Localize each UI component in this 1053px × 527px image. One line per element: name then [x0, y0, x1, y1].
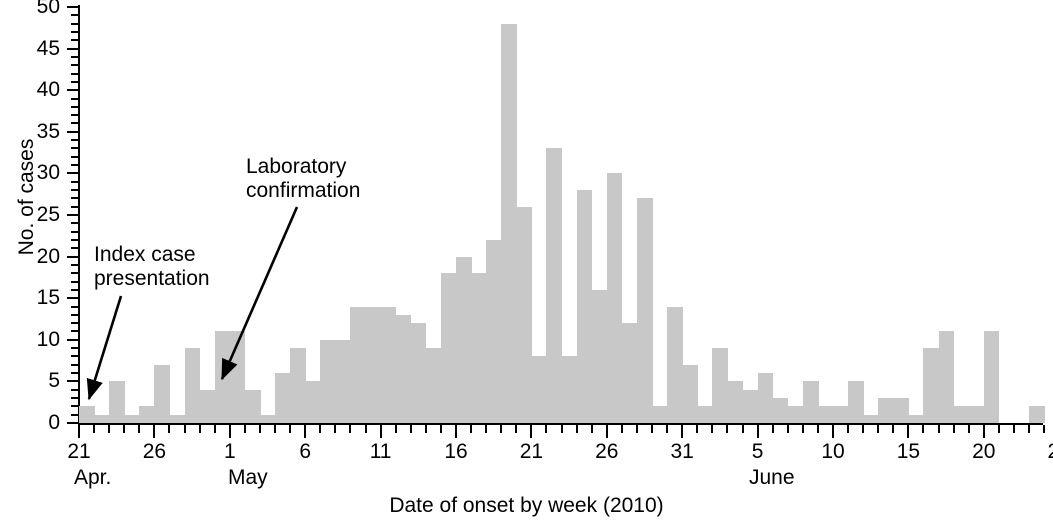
x-tick-minor: [93, 425, 95, 433]
x-tick-minor: [742, 425, 744, 433]
y-tick-minor: [71, 206, 79, 208]
bar: [878, 398, 894, 423]
x-tick-minor: [214, 425, 216, 433]
x-tick-minor: [500, 425, 502, 433]
x-tick-major: [681, 425, 683, 438]
y-tick-minor: [71, 64, 79, 66]
bar: [124, 415, 140, 423]
x-tick-minor: [726, 425, 728, 433]
bar: [923, 348, 939, 423]
x-tick-major: [907, 425, 909, 438]
bar: [652, 406, 668, 423]
x-tick-major: [832, 425, 834, 438]
bar-series: [79, 7, 1043, 423]
y-tick-major: [67, 89, 79, 91]
x-tick-label: 26: [124, 441, 184, 463]
bar: [185, 348, 201, 423]
x-tick-minor: [425, 425, 427, 433]
x-tick-minor: [1013, 425, 1015, 433]
x-tick-minor: [636, 425, 638, 433]
y-tick-major: [67, 48, 79, 50]
bar: [320, 340, 336, 423]
y-tick-label: 10: [0, 329, 60, 350]
bar: [939, 331, 955, 423]
x-tick-label: 21: [49, 441, 109, 463]
y-tick-label: 0: [0, 412, 60, 433]
x-tick-major: [606, 425, 608, 438]
x-tick-label: 15: [878, 441, 938, 463]
y-tick-minor: [71, 264, 79, 266]
x-tick-minor: [485, 425, 487, 433]
y-tick-label: 45: [0, 38, 60, 59]
bar: [501, 24, 517, 423]
x-tick-minor: [651, 425, 653, 433]
y-tick-minor: [71, 189, 79, 191]
bar: [712, 348, 728, 423]
y-tick-minor: [71, 73, 79, 75]
y-tick-minor: [71, 389, 79, 391]
x-tick-minor: [138, 425, 140, 433]
y-tick-minor: [71, 239, 79, 241]
chart-figure: No. of cases 05101520253035404550 212616…: [0, 0, 1053, 527]
bar: [290, 348, 306, 423]
x-tick-minor: [395, 425, 397, 433]
bar: [1029, 406, 1045, 423]
y-tick-label: 30: [0, 162, 60, 183]
bar: [833, 406, 849, 423]
x-tick-minor: [199, 425, 201, 433]
y-tick-minor: [71, 314, 79, 316]
bar: [200, 390, 216, 423]
x-tick-label: 31: [652, 441, 712, 463]
x-tick-minor: [334, 425, 336, 433]
x-tick-major: [78, 425, 80, 438]
bar: [818, 406, 834, 423]
x-tick-minor: [922, 425, 924, 433]
y-tick-label: 20: [0, 246, 60, 267]
x-tick-minor: [365, 425, 367, 433]
bar: [516, 207, 532, 423]
bar: [426, 348, 442, 423]
bar: [154, 365, 170, 423]
y-tick-minor: [71, 289, 79, 291]
y-tick-minor: [71, 405, 79, 407]
bar: [984, 331, 1000, 423]
bar: [562, 356, 578, 423]
bar: [230, 331, 246, 423]
y-tick-label: 50: [0, 0, 60, 17]
x-tick-minor: [787, 425, 789, 433]
x-tick-minor: [817, 425, 819, 433]
x-tick-minor: [545, 425, 547, 433]
bar: [667, 307, 683, 423]
x-tick-minor: [259, 425, 261, 433]
x-tick-minor: [108, 425, 110, 433]
x-tick-minor: [123, 425, 125, 433]
y-tick-label: 40: [0, 79, 60, 100]
x-tick-label: 10: [803, 441, 863, 463]
bar: [411, 323, 427, 423]
y-tick-label: 25: [0, 204, 60, 225]
bar: [697, 406, 713, 423]
x-tick-minor: [470, 425, 472, 433]
bar: [215, 331, 231, 423]
x-tick-major: [530, 425, 532, 438]
x-tick-minor: [274, 425, 276, 433]
month-label-april: Apr.: [74, 467, 194, 489]
y-tick-label: 5: [0, 370, 60, 391]
x-tick-major: [380, 425, 382, 438]
x-tick-minor: [862, 425, 864, 433]
bar: [893, 398, 909, 423]
y-tick-major: [67, 339, 79, 341]
y-tick-minor: [71, 306, 79, 308]
x-axis-title: Date of onset by week (2010): [0, 495, 1053, 517]
y-tick-minor: [71, 56, 79, 58]
y-tick-minor: [71, 247, 79, 249]
plot-area: [79, 7, 1043, 423]
x-tick-major: [229, 425, 231, 438]
x-tick-label: 11: [351, 441, 411, 463]
y-tick-label: 35: [0, 121, 60, 142]
bar: [245, 390, 261, 423]
x-tick-label: 21: [501, 441, 561, 463]
month-label-june: June: [749, 467, 869, 489]
x-tick-label: 5: [728, 441, 788, 463]
x-tick-major: [455, 425, 457, 438]
bar: [758, 373, 774, 423]
bar: [727, 381, 743, 423]
x-tick-minor: [184, 425, 186, 433]
bar: [139, 406, 155, 423]
bar: [577, 190, 593, 423]
bar: [366, 307, 382, 423]
x-tick-major: [153, 425, 155, 438]
bar: [954, 406, 970, 423]
x-tick-minor: [440, 425, 442, 433]
bar: [260, 415, 276, 423]
y-tick-minor: [71, 364, 79, 366]
x-tick-minor: [591, 425, 593, 433]
y-tick-major: [67, 131, 79, 133]
bar: [456, 257, 472, 423]
bar: [773, 398, 789, 423]
y-tick-major: [67, 6, 79, 8]
bar: [275, 373, 291, 423]
x-tick-label: 1: [200, 441, 260, 463]
x-tick-minor: [696, 425, 698, 433]
x-tick-minor: [289, 425, 291, 433]
y-tick-minor: [71, 39, 79, 41]
bar: [471, 273, 487, 423]
x-tick-minor: [621, 425, 623, 433]
x-tick-major: [983, 425, 985, 438]
bar: [622, 323, 638, 423]
y-tick-major: [67, 214, 79, 216]
bar: [592, 290, 608, 423]
y-tick-minor: [71, 330, 79, 332]
bar: [305, 381, 321, 423]
y-tick-minor: [71, 181, 79, 183]
bar: [682, 365, 698, 423]
y-tick-label: 15: [0, 287, 60, 308]
y-tick-minor: [71, 147, 79, 149]
x-tick-minor: [953, 425, 955, 433]
y-tick-minor: [71, 156, 79, 158]
y-tick-major: [67, 422, 79, 424]
x-tick-major: [304, 425, 306, 438]
bar: [969, 406, 985, 423]
y-tick-minor: [71, 197, 79, 199]
y-tick-minor: [71, 372, 79, 374]
y-tick-minor: [71, 98, 79, 100]
y-tick-minor: [71, 14, 79, 16]
y-tick-minor: [71, 397, 79, 399]
y-tick-minor: [71, 231, 79, 233]
y-tick-minor: [71, 122, 79, 124]
y-tick-minor: [71, 139, 79, 141]
x-tick-label: 6: [275, 441, 335, 463]
y-tick-minor: [71, 31, 79, 33]
x-tick-minor: [802, 425, 804, 433]
x-tick-minor: [576, 425, 578, 433]
y-tick-minor: [71, 222, 79, 224]
y-tick-minor: [71, 347, 79, 349]
x-tick-minor: [349, 425, 351, 433]
bar: [788, 406, 804, 423]
x-tick-minor: [968, 425, 970, 433]
y-tick-major: [67, 256, 79, 258]
y-tick-minor: [71, 106, 79, 108]
bar: [546, 148, 562, 423]
x-tick-minor: [561, 425, 563, 433]
bar: [441, 273, 457, 423]
bar: [381, 307, 397, 423]
bar: [350, 307, 366, 423]
x-tick-label: 26: [577, 441, 637, 463]
x-tick-minor: [1043, 425, 1045, 433]
x-tick-minor: [666, 425, 668, 433]
x-tick-minor: [244, 425, 246, 433]
month-label-may: May: [228, 467, 348, 489]
y-tick-minor: [71, 322, 79, 324]
x-tick-minor: [1028, 425, 1030, 433]
bar: [743, 390, 759, 423]
x-tick-minor: [892, 425, 894, 433]
bar: [94, 415, 110, 423]
annotation-laboratory-confirmation: Laboratory confirmation: [246, 155, 360, 203]
x-tick-minor: [877, 425, 879, 433]
x-tick-minor: [319, 425, 321, 433]
y-tick-minor: [71, 114, 79, 116]
bar: [908, 415, 924, 423]
bar: [396, 315, 412, 423]
x-tick-minor: [938, 425, 940, 433]
bar: [486, 240, 502, 423]
y-tick-major: [67, 172, 79, 174]
x-tick-minor: [515, 425, 517, 433]
y-tick-minor: [71, 81, 79, 83]
bar: [863, 415, 879, 423]
bar: [79, 406, 95, 423]
bar: [848, 381, 864, 423]
y-tick-minor: [71, 355, 79, 357]
bar: [531, 356, 547, 423]
x-tick-minor: [168, 425, 170, 433]
y-tick-minor: [71, 23, 79, 25]
y-tick-minor: [71, 164, 79, 166]
x-tick-minor: [772, 425, 774, 433]
bar: [803, 381, 819, 423]
x-tick-minor: [847, 425, 849, 433]
bar: [607, 173, 623, 423]
y-tick-minor: [71, 272, 79, 274]
x-tick-label: 25: [1029, 441, 1053, 463]
x-tick-minor: [998, 425, 1000, 433]
x-tick-major: [757, 425, 759, 438]
y-tick-minor: [71, 281, 79, 283]
x-tick-label: 16: [426, 441, 486, 463]
y-tick-major: [67, 380, 79, 382]
annotation-index-case: Index case presentation: [94, 243, 210, 291]
x-tick-minor: [711, 425, 713, 433]
bar: [335, 340, 351, 423]
x-tick-minor: [410, 425, 412, 433]
bar: [109, 381, 125, 423]
y-tick-minor: [71, 414, 79, 416]
bar: [169, 415, 185, 423]
bar: [637, 198, 653, 423]
x-tick-label: 20: [954, 441, 1014, 463]
y-tick-major: [67, 297, 79, 299]
